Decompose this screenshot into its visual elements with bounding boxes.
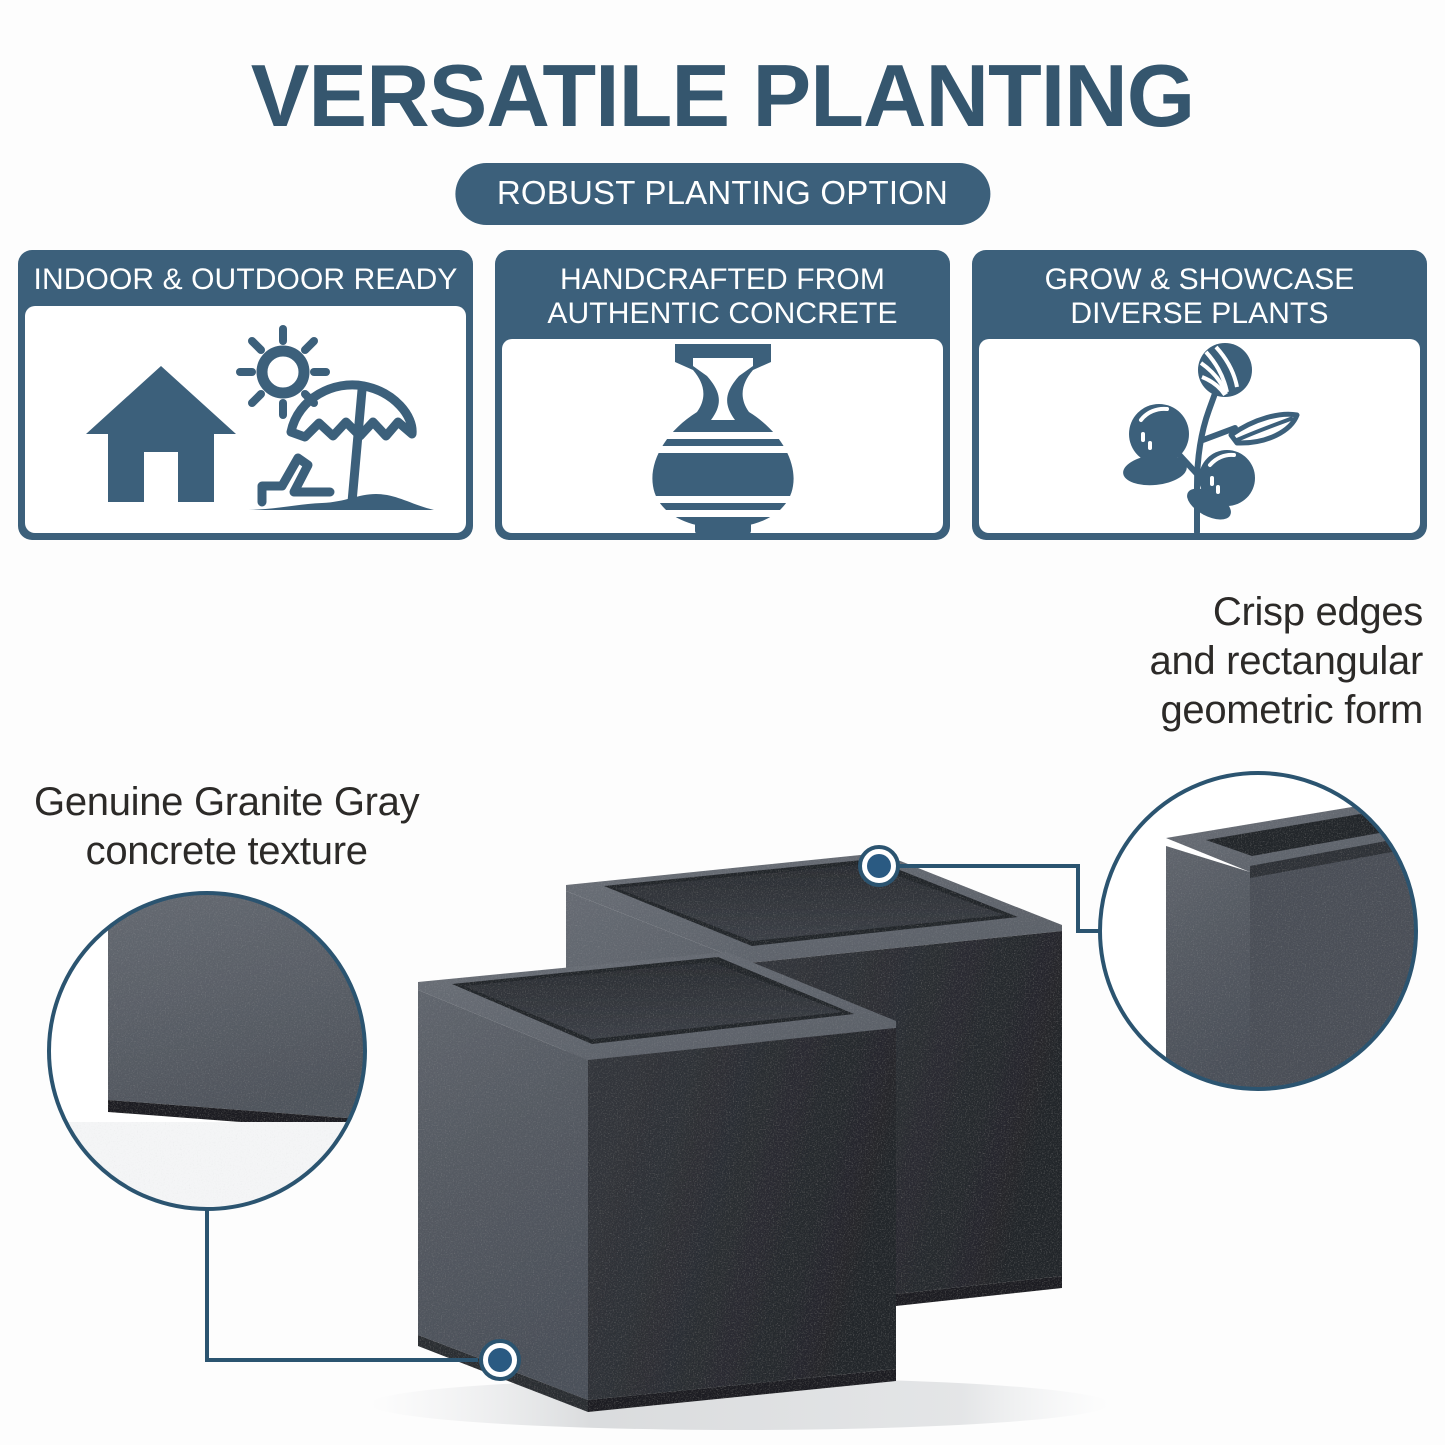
- feature-card-diverse-plants: GROW & SHOWCASE DIVERSE PLANTS: [972, 250, 1427, 540]
- planter-back: [566, 853, 1062, 1322]
- annotation-granite-texture: Genuine Granite Gray concrete texture: [34, 778, 419, 876]
- feature-card-row: INDOOR & OUTDOOR READY: [18, 250, 1427, 540]
- callout-connector-left: [207, 1209, 478, 1360]
- feature-card-title: HANDCRAFTED FROM AUTHENTIC CONCRETE: [502, 257, 943, 339]
- callout-circle-texture: [49, 870, 410, 1232]
- product-ground-shadow: [370, 1378, 1110, 1430]
- feature-card-indoor-outdoor: INDOOR & OUTDOOR READY: [18, 250, 473, 540]
- annotation-line: Crisp edges: [1150, 588, 1423, 637]
- subtitle-badge: ROBUST PLANTING OPTION: [455, 163, 990, 225]
- planter-front: [418, 952, 896, 1412]
- annotation-line: concrete texture: [34, 827, 419, 876]
- annotation-crisp-edges: Crisp edges and rectangular geometric fo…: [1150, 588, 1423, 734]
- annotation-line: Genuine Granite Gray: [34, 778, 419, 827]
- feature-card-title: INDOOR & OUTDOOR READY: [25, 257, 466, 306]
- berry-branch-icon: [1085, 339, 1315, 533]
- feature-card-icon-area: [25, 306, 466, 533]
- vase-icon: [613, 339, 833, 533]
- feature-card-icon-area: [979, 339, 1420, 533]
- annotation-line: geometric form: [1150, 686, 1423, 735]
- annotation-line: and rectangular: [1150, 637, 1423, 686]
- callout-marker-right: [860, 847, 898, 885]
- house-sun-beach-icon: [46, 324, 446, 514]
- callout-connector-right: [898, 866, 1100, 931]
- feature-card-authentic-concrete: HANDCRAFTED FROM AUTHENTIC CONCRETE: [495, 250, 950, 540]
- callout-marker-left: [481, 1341, 519, 1379]
- callout-circle-edges: [1100, 773, 1445, 1098]
- page-title: VERSATILE PLANTING: [0, 52, 1445, 140]
- feature-card-title: GROW & SHOWCASE DIVERSE PLANTS: [979, 257, 1420, 339]
- feature-card-icon-area: [502, 339, 943, 533]
